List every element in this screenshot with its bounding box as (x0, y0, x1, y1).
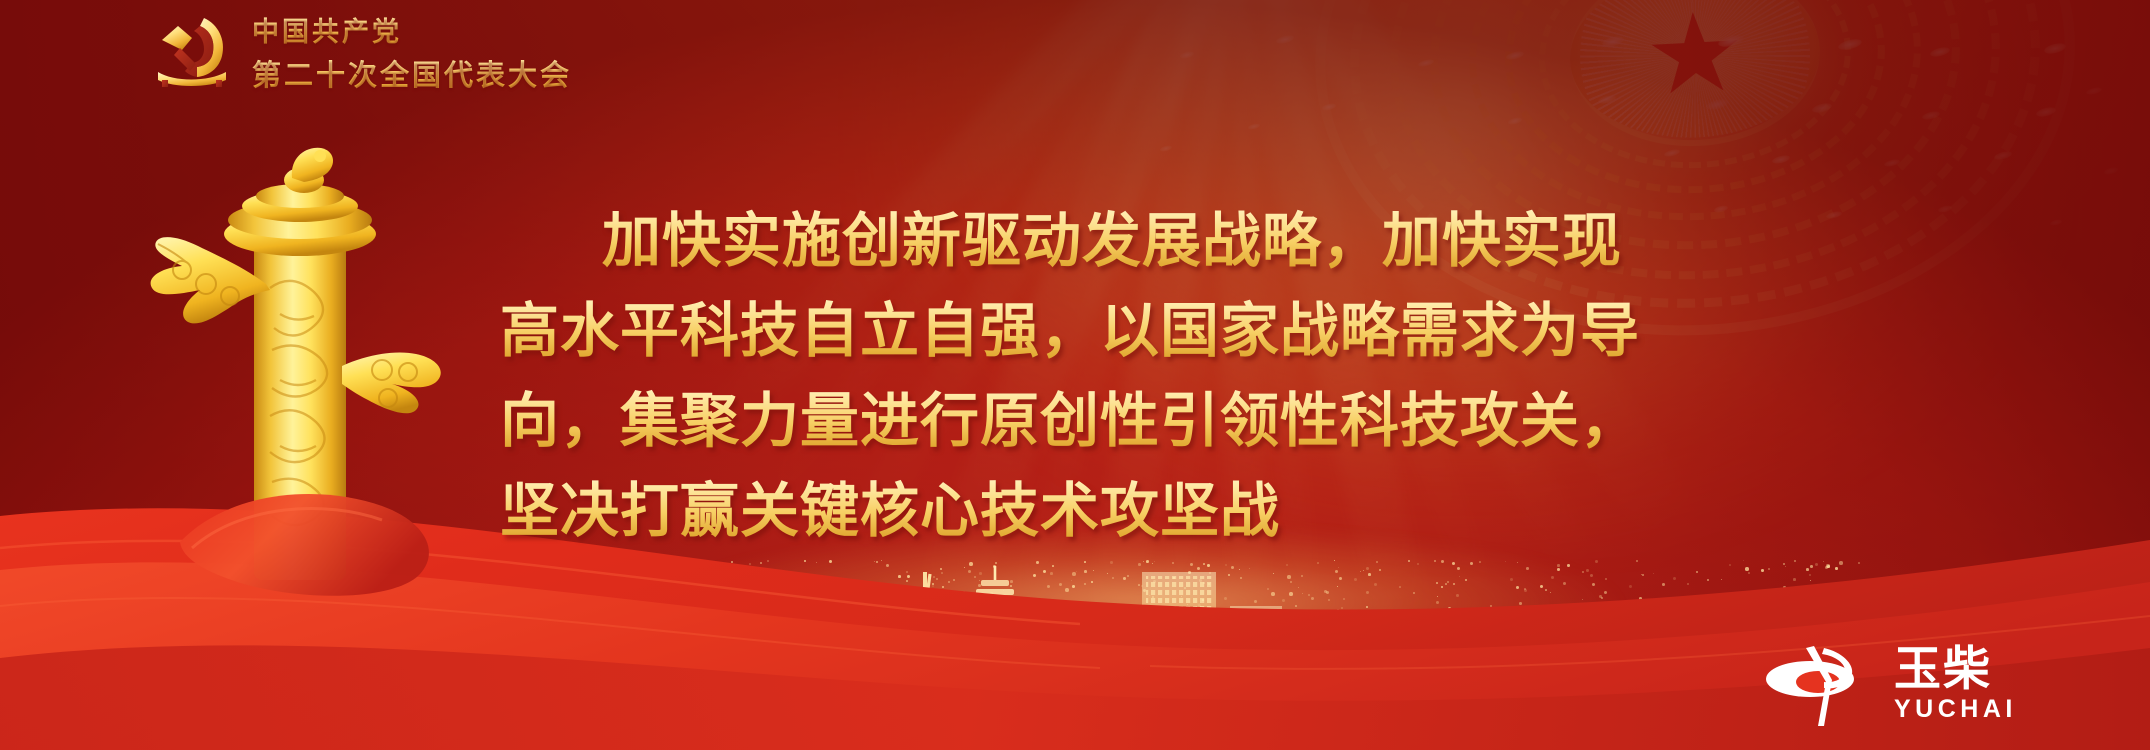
yuchai-logo: 玉柴 YUCHAI (1762, 638, 2017, 730)
headline-block: 加快实施创新驱动发展战略，加快实现 高水平科技自立自强，以国家战略需求为导 向，… (500, 196, 1760, 556)
headline-line-3: 向，集聚力量进行原创性引领性科技攻关， (500, 376, 1760, 466)
huabiao-red-ribbon (180, 494, 429, 596)
huabiao-capital (224, 184, 376, 256)
congress-title-block: 中国共产党 第二十次全国代表大会 (252, 10, 572, 94)
yuchai-name-cn: 玉柴 (1894, 645, 1992, 695)
headline-line-2: 高水平科技自立自强，以国家战略需求为导 (500, 286, 1760, 376)
headline-line-1: 加快实施创新驱动发展战略，加快实现 (500, 196, 1760, 286)
yuchai-ellipse-mark (1762, 638, 1880, 730)
yuchai-wordmark: 玉柴 YUCHAI (1894, 645, 2017, 723)
huabiao-cloud-board-right (342, 353, 441, 414)
congress-title-line-2: 第二十次全国代表大会 (252, 52, 572, 94)
banner-root: 中国共产党 第二十次全国代表大会 加快实施创新驱动发展战略，加快实现 高水平科技… (0, 0, 2150, 750)
headline-line-4: 坚决打赢关键核心技术攻坚战 (500, 466, 1760, 556)
congress-title-line-1: 中国共产党 (252, 10, 572, 49)
yuchai-name-en: YUCHAI (1894, 695, 2017, 723)
huabiao-hou-beast (284, 148, 333, 193)
cpc-hammer-sickle-emblem (152, 14, 234, 90)
golden-huabiao-column (120, 138, 470, 608)
congress-identity: 中国共产党 第二十次全国代表大会 (152, 10, 572, 94)
